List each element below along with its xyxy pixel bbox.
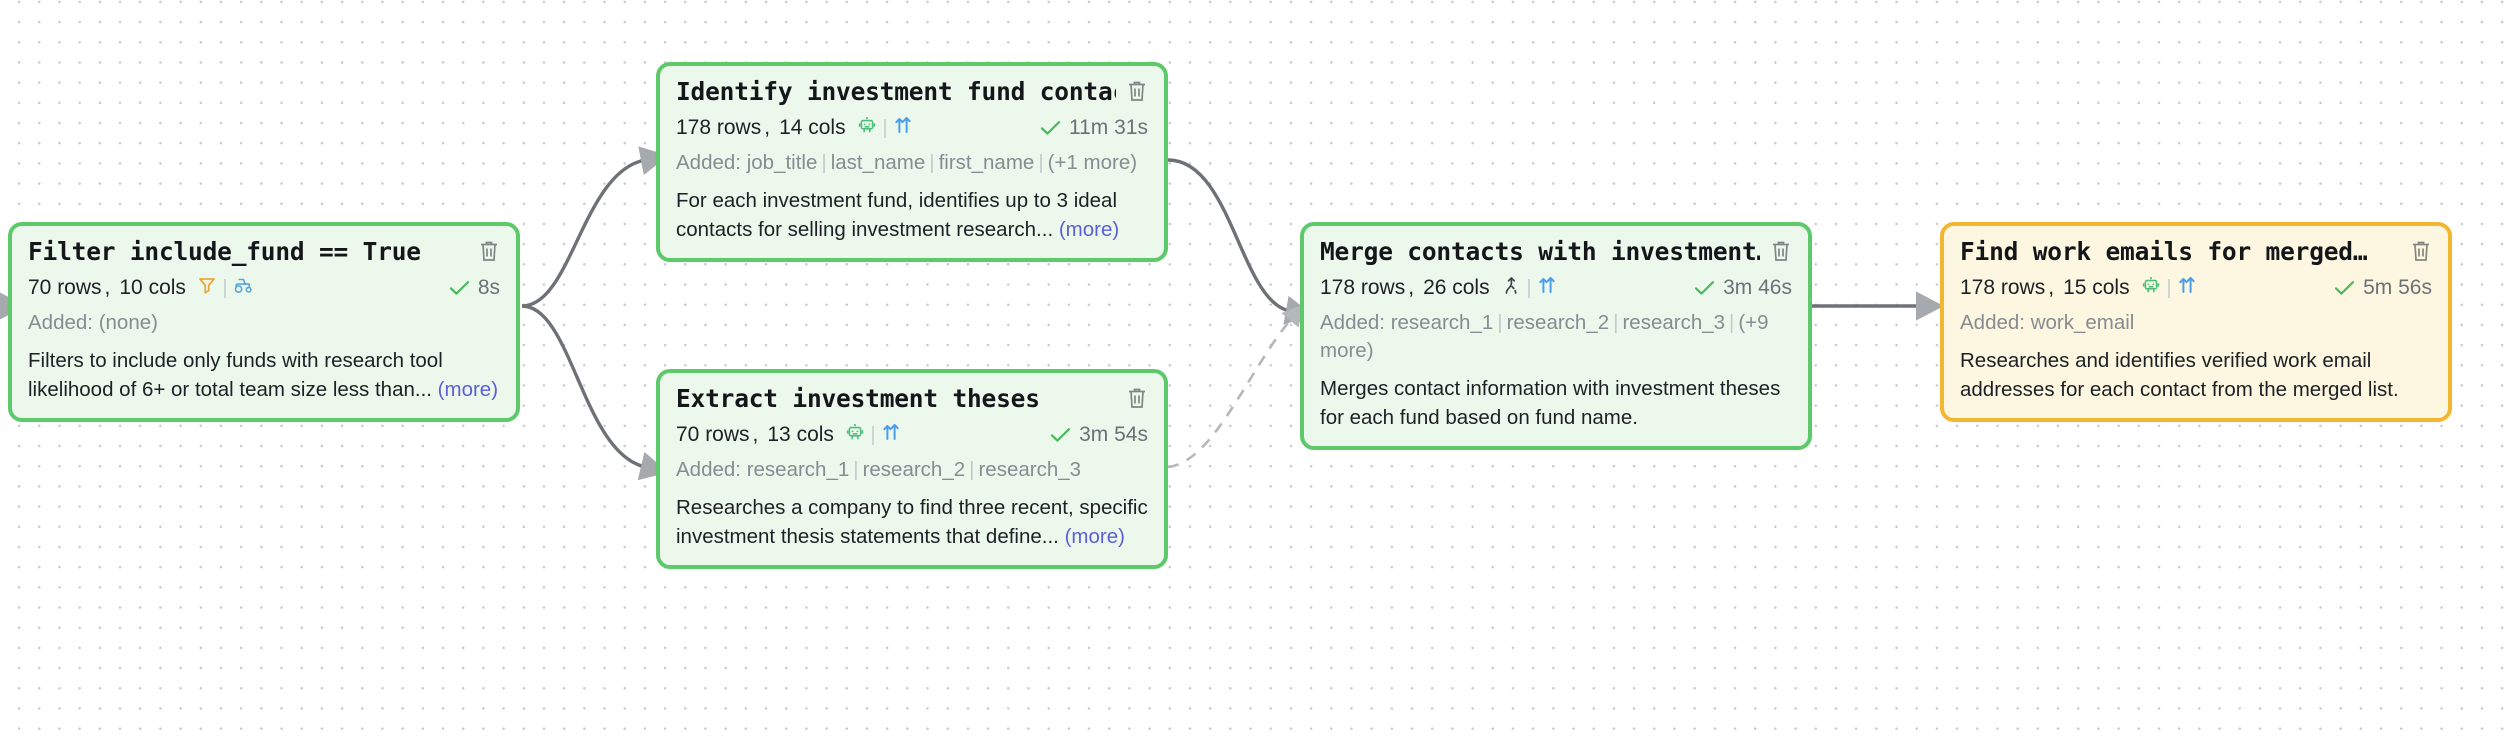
node-header: Extract investment theses [676,385,1148,413]
col-divider: | [1034,151,1047,174]
meta-separator: , [2048,276,2054,300]
node-type-icons [857,115,913,141]
added-col: research_3 [1622,311,1725,334]
more-link[interactable]: (more) [1065,525,1125,548]
node-title: Filter include_fund == True [28,238,421,266]
double-up-arrow-icon [893,115,913,141]
row-count: 70 rows [28,276,102,300]
check-icon [1040,120,1061,136]
node-header: Find work emails for merged… [1960,238,2432,266]
node-description: Merges contact information with investme… [1320,374,1792,432]
icon-divider [224,279,226,298]
node-meta-row: 178 rows , 26 cols [1320,275,1792,301]
icon-divider [872,426,874,445]
node-description: Researches and identifies verified work … [1960,346,2432,404]
node-status: 3m 54s [1050,423,1148,447]
col-count: 14 cols [779,116,846,140]
added-label: Added: [676,458,741,481]
node-title: Find work emails for merged… [1960,238,2367,266]
node-shape-info: 178 rows , 15 cols [1960,275,2197,301]
node-title: Identify investment fund contacts [676,78,1116,106]
robot-icon [2141,275,2161,301]
description-text: For each investment fund, identifies up … [676,189,1117,241]
col-divider: | [1493,311,1506,334]
col-count: 10 cols [119,276,186,300]
added-columns-row: Added: research_1|research_2|research_3|… [1320,309,1792,364]
node-header: Filter include_fund == True [28,238,500,266]
node-type-icons [1501,275,1557,301]
trash-icon[interactable] [1126,79,1148,103]
meta-separator: , [764,116,770,140]
added-label: Added: [1320,311,1385,334]
added-col: last_name [831,151,926,174]
added-columns-row: Added: work_email [1960,309,2432,337]
merge-icon [1501,275,1521,301]
node-type-icons [197,275,254,301]
duration-label: 11m 31s [1069,116,1148,140]
col-divider: | [965,458,978,481]
col-divider: | [925,151,938,174]
description-text: Filters to include only funds with resea… [28,349,443,401]
double-up-arrow-icon [2177,275,2197,301]
description-text: Merges contact information with investme… [1320,377,1780,429]
col-count: 15 cols [2063,276,2130,300]
edge-filter-to-identify [522,160,645,306]
robot-icon [857,115,877,141]
node-description: For each investment fund, identifies up … [676,186,1148,244]
added-col: research_2 [863,458,966,481]
node-meta-row: 70 rows , 13 cols [676,422,1148,448]
node-header: Merge contacts with investment… [1320,238,1792,266]
node-description: Filters to include only funds with resea… [28,346,500,404]
flow-canvas[interactable]: Filter include_fund == True 70 rows , 10… [0,0,2520,746]
trash-icon[interactable] [2410,239,2432,263]
added-col: research_1 [747,458,850,481]
check-icon [1694,280,1715,296]
edge-extract-to-merge [1168,318,1292,467]
trash-icon[interactable] [478,239,500,263]
node-meta-row: 178 rows , 15 cols [1960,275,2432,301]
icon-divider [1528,279,1530,298]
edge-filter-to-extract [522,306,645,467]
node-meta-row: 178 rows , 14 cols [676,115,1148,141]
row-count: 178 rows [1960,276,2045,300]
row-count: 178 rows [676,116,761,140]
col-divider: | [1609,311,1622,334]
check-icon [1050,427,1071,443]
added-col: first_name [939,151,1035,174]
meta-separator: , [1408,276,1414,300]
duration-label: 3m 54s [1079,423,1148,447]
node-title: Extract investment theses [676,385,1040,413]
filter-funnel-icon [197,275,217,301]
added-columns-row: Added: job_title|last_name|first_name|(+… [676,149,1148,177]
double-up-arrow-icon [881,422,901,448]
node-shape-info: 70 rows , 13 cols [676,422,901,448]
col-count: 13 cols [767,423,834,447]
node-meta-row: 70 rows , 10 cols [28,275,500,301]
check-icon [2334,280,2355,296]
description-text: Researches and identifies verified work … [1960,349,2399,401]
added-label: Added: [1960,311,2025,334]
flow-node-filter-include-fund[interactable]: Filter include_fund == True 70 rows , 10… [8,222,520,422]
node-description: Researches a company to find three recen… [676,493,1148,551]
node-type-icons [845,422,901,448]
added-columns-row: Added: research_1|research_2|research_3 [676,456,1148,484]
flow-node-extract-investment-theses[interactable]: Extract investment theses 70 rows , 13 c… [656,369,1168,569]
more-link[interactable]: (more) [1059,218,1119,241]
node-status: 3m 46s [1694,276,1792,300]
node-status: 5m 56s [2334,276,2432,300]
added-col-more: (+1 more) [1048,151,1137,174]
node-title: Merge contacts with investment… [1320,238,1760,266]
row-count: 178 rows [1320,276,1405,300]
duration-label: 3m 46s [1723,276,1792,300]
row-count: 70 rows [676,423,750,447]
trash-icon[interactable] [1770,239,1792,263]
col-divider: | [849,458,862,481]
check-icon [449,280,470,296]
duration-label: 5m 56s [2363,276,2432,300]
added-col: job_title [747,151,818,174]
node-status: 8s [449,276,500,300]
col-divider: | [817,151,830,174]
node-type-icons [2141,275,2197,301]
meta-separator: , [105,276,111,300]
node-shape-info: 178 rows , 26 cols [1320,275,1557,301]
flow-node-find-work-emails-for-merged[interactable]: Find work emails for merged… 178 rows , … [1940,222,2452,422]
flow-node-identify-investment-fund-contacts[interactable]: Identify investment fund contacts 178 ro… [656,62,1168,262]
added-col: work_email [2031,311,2135,334]
added-columns-row: Added: (none) [28,309,500,337]
added-label: Added: [676,151,741,174]
col-divider: | [1725,311,1738,334]
added-col: research_2 [1507,311,1610,334]
added-col: (none) [99,311,158,334]
node-header: Identify investment fund contacts [676,78,1148,106]
robot-icon [845,422,865,448]
added-label: Added: [28,311,93,334]
added-col: research_3 [978,458,1081,481]
col-count: 26 cols [1423,276,1490,300]
node-shape-info: 70 rows , 10 cols [28,275,254,301]
icon-divider [2168,279,2170,298]
tractor-icon [233,275,254,301]
more-link[interactable]: (more) [438,378,498,401]
edge-identify-to-merge [1168,160,1290,311]
node-shape-info: 178 rows , 14 cols [676,115,913,141]
node-status: 11m 31s [1040,116,1148,140]
duration-label: 8s [478,276,500,300]
trash-icon[interactable] [1126,386,1148,410]
meta-separator: , [753,423,759,447]
flow-node-merge-contacts-with-investment[interactable]: Merge contacts with investment… 178 rows… [1300,222,1812,450]
added-col: research_1 [1391,311,1494,334]
double-up-arrow-icon [1537,275,1557,301]
icon-divider [884,119,886,138]
